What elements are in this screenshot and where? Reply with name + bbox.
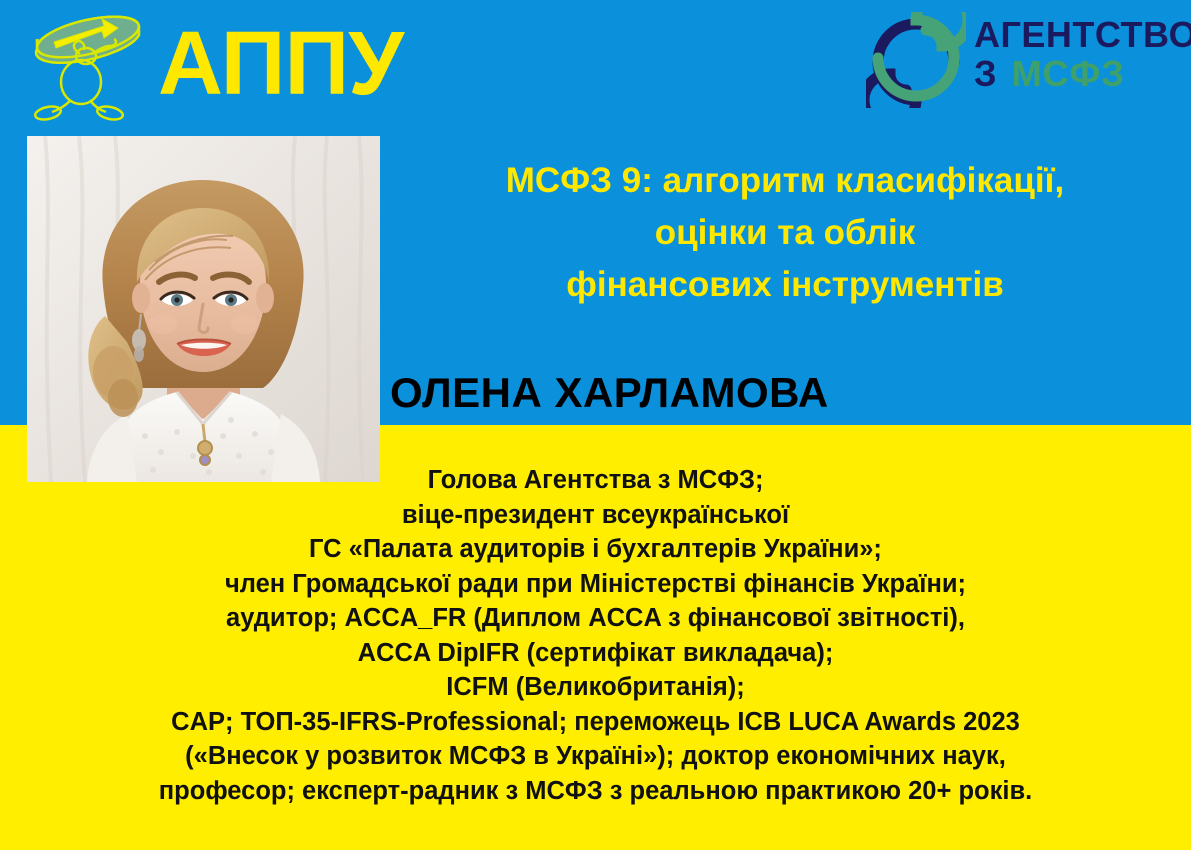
bio-line: професор; експерт-радник з МСФЗ з реальн… [10,774,1181,809]
bio-line: Голова Агентства з МСФЗ; [10,463,1181,498]
bio-line: («Внесок у розвиток МСФЗ в Україні»); до… [10,739,1181,774]
bio-line: член Громадської ради при Міністерстві ф… [10,567,1181,602]
bio-line: CAP; ТОП-35-IFRS-Professional; переможец… [10,705,1181,740]
bio-line: ICFM (Великобританія); [10,670,1181,705]
agency-wordmark: АГЕНТСТВО ЗМСФЗ [974,16,1191,94]
agency-msfz-text: МСФЗ [1012,53,1125,94]
appu-mascot-icon [18,6,158,124]
agency-z-text: З [974,53,998,94]
title-line-3: фінансових інструментів [390,259,1180,311]
agency-line-z-msfz: ЗМСФЗ [974,54,1191,94]
speaker-name: ОЛЕНА ХАРЛАМОВА [390,368,1180,418]
agency-spiral-icon [866,12,966,108]
bio-line: аудитор; ACCA_FR (Диплом ACCA з фінансов… [10,601,1181,636]
bio-line: ГС «Палата аудиторів і бухгалтерів Украї… [10,532,1181,567]
title-line-2: оцінки та облік [390,207,1180,259]
presentation-slide: АППУ АГЕНТСТВО ЗМСФЗ [0,0,1191,850]
bio-line: ACCA DipIFR (сертифікат викладача); [10,636,1181,671]
agency-logo: АГЕНТСТВО ЗМСФЗ [866,10,1186,110]
speaker-photo [27,136,380,482]
agency-line-agentstvo: АГЕНТСТВО [974,16,1191,54]
slide-title: МСФЗ 9: алгоритм класифікації, оцінки та… [390,155,1180,311]
appu-wordmark: АППУ [158,14,403,114]
bio-line: віце-президент всеукраїнської [10,498,1181,533]
speaker-bio: Голова Агентства з МСФЗ; віце-президент … [10,463,1181,808]
appu-logo: АППУ [18,6,378,124]
title-line-1: МСФЗ 9: алгоритм класифікації, [390,155,1180,207]
